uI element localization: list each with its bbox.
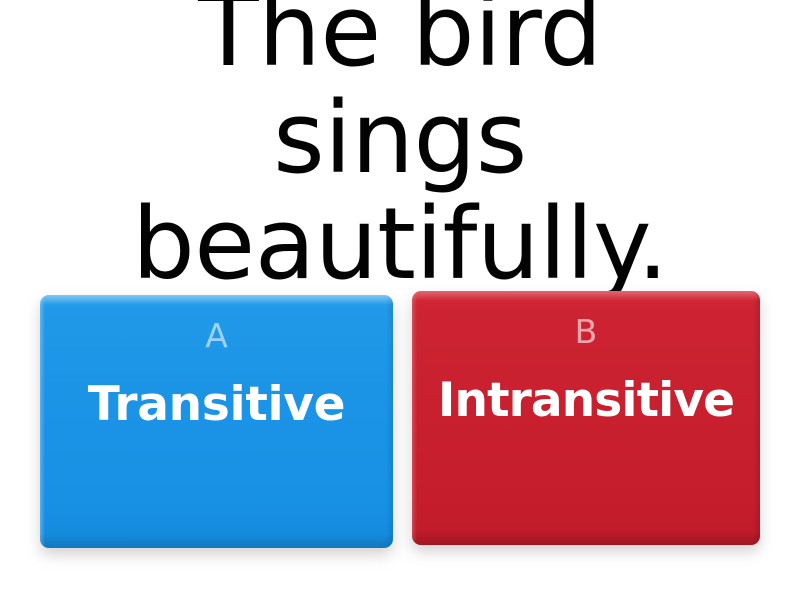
answer-label-a: Transitive [40, 380, 393, 429]
quiz-stage: The bird sings beautifully. A Transitive… [0, 0, 800, 600]
answer-option-a[interactable]: A Transitive [40, 295, 393, 548]
card-a-bevel-top-edge [40, 295, 393, 304]
answer-letter-a: A [205, 319, 228, 352]
answers-area: A Transitive B Intransitive [0, 278, 800, 600]
question-text: The bird sings beautifully. [70, 0, 730, 299]
answer-letter-b: B [575, 315, 598, 348]
answer-label-b: Intransitive [412, 376, 760, 425]
question-area: The bird sings beautifully. [0, 0, 800, 278]
card-b-bevel-bottom-edge [412, 530, 760, 545]
card-b-bevel-top-edge [412, 291, 760, 300]
answer-option-b[interactable]: B Intransitive [412, 291, 760, 545]
card-a-bevel-bottom-edge [40, 533, 393, 548]
